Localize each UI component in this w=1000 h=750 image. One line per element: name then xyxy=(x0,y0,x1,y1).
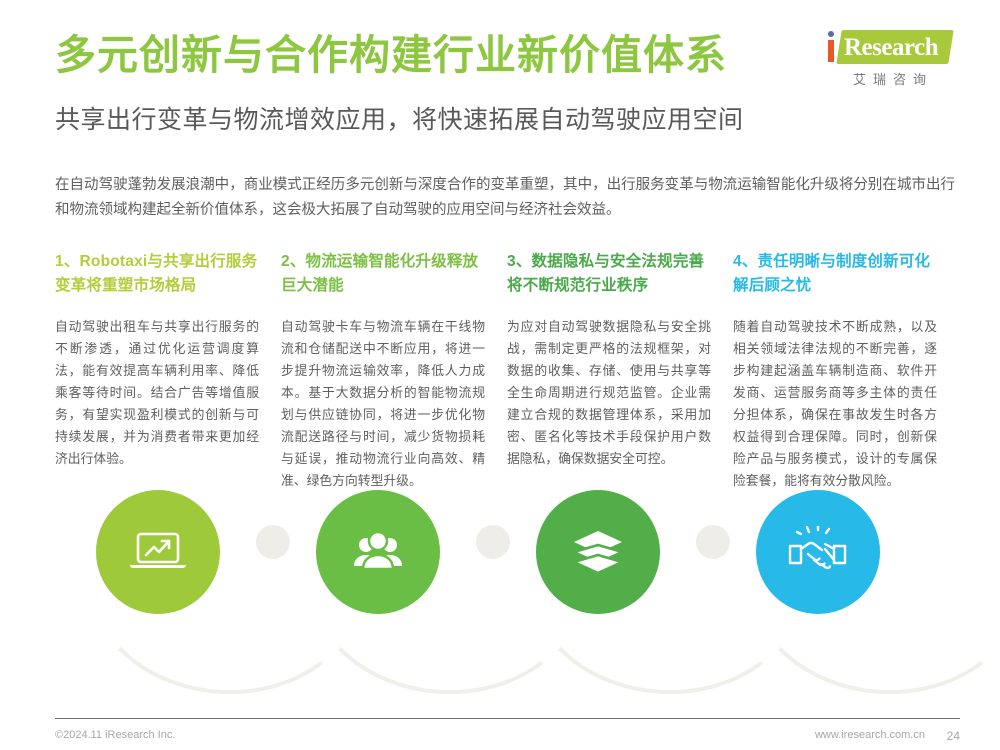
column-3-body: 为应对自动驾驶数据隐私与安全挑战，需制定更严格的法规框架，对数据的收集、存储、使… xyxy=(507,316,711,470)
slide-header: 多元创新与合作构建行业新价值体系 共享出行变革与物流增效应用，将快速拓展自动驾驶… xyxy=(0,0,1000,150)
layers-stack-icon xyxy=(571,527,625,577)
connector-node-2 xyxy=(476,525,510,559)
column-2-title: 2、物流运输智能化升级释放巨大潜能 xyxy=(281,250,485,298)
logo-i-stem-icon xyxy=(828,40,834,62)
connector-node-1 xyxy=(256,525,290,559)
page-title: 多元创新与合作构建行业新价值体系 xyxy=(55,32,727,79)
footer-website: www.iresearch.com.cn xyxy=(815,729,925,741)
footer-page-number: 24 xyxy=(947,729,960,743)
columns-container: 1、Robotaxi与共享出行服务变革将重塑市场格局 自动驾驶出租车与共享出行服… xyxy=(55,250,960,480)
footer-divider xyxy=(55,718,960,719)
column-4-title: 4、责任明晰与制度创新可化解后顾之忧 xyxy=(733,250,937,298)
column-1: 1、Robotaxi与共享出行服务变革将重塑市场格局 自动驾驶出租车与共享出行服… xyxy=(55,250,281,480)
people-group-icon xyxy=(349,528,407,576)
slide-root: 多元创新与合作构建行业新价值体系 共享出行变革与物流增效应用，将快速拓展自动驾驶… xyxy=(0,0,1000,750)
column-1-body: 自动驾驶出租车与共享出行服务的不断渗透，通过优化运营调度算法，能有效提高车辆利用… xyxy=(55,316,259,470)
logo-wordmark: Research xyxy=(844,34,938,62)
column-3-title: 3、数据隐私与安全法规完善将不断规范行业秩序 xyxy=(507,250,711,298)
column-4: 4、责任明晰与制度创新可化解后顾之忧 随着自动驾驶技术不断成熟，以及相关领域法律… xyxy=(733,250,959,480)
column-1-title: 1、Robotaxi与共享出行服务变革将重塑市场格局 xyxy=(55,250,259,298)
connector-node-3 xyxy=(696,525,730,559)
logo-badge: Research xyxy=(817,28,952,66)
footer-copyright: ©2024.11 iResearch Inc. xyxy=(55,729,175,741)
iresearch-logo: Research 艾瑞咨询 xyxy=(817,28,952,90)
laptop-growth-icon xyxy=(129,528,187,576)
icon-bubble-1 xyxy=(96,490,220,614)
icon-bubble-3 xyxy=(536,490,660,614)
column-3: 3、数据隐私与安全法规完善将不断规范行业秩序 为应对自动驾驶数据隐私与安全挑战，… xyxy=(507,250,733,480)
icon-bubble-4 xyxy=(756,490,880,614)
column-2: 2、物流运输智能化升级释放巨大潜能 自动驾驶卡车与物流车辆在干线物流和仓储配送中… xyxy=(281,250,507,480)
intro-paragraph: 在自动驾驶蓬勃发展浪潮中，商业模式正经历多元创新与深度合作的变革重塑，其中，出行… xyxy=(55,173,955,223)
handshake-icon xyxy=(787,526,849,578)
page-subtitle: 共享出行变革与物流增效应用，将快速拓展自动驾驶应用空间 xyxy=(55,100,744,136)
logo-i-dot-icon xyxy=(828,31,834,37)
icon-bubble-2 xyxy=(316,490,440,614)
logo-chinese-name: 艾瑞咨询 xyxy=(833,69,953,88)
icon-circles-graphic xyxy=(0,480,1000,690)
